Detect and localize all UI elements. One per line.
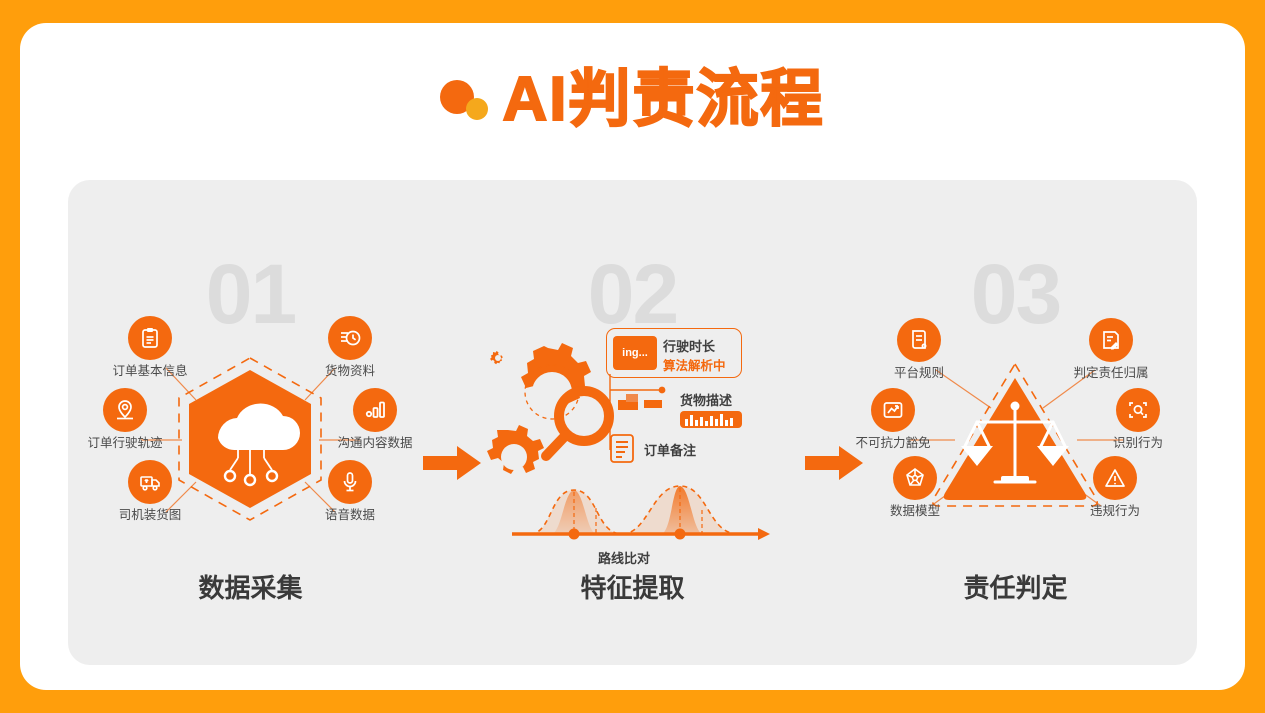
truck-icon [128,460,172,504]
stage-column-2: 02 [460,180,805,665]
content-panel: 01 [68,180,1197,665]
node-label: 数据模型 [865,504,965,519]
node-label: 沟通内容数据 [325,436,425,451]
node-label: 识别行为 [1088,436,1188,451]
bar-chart-pill [680,411,742,428]
stage-2-graphic: ing... 行驶时长 算法解析中 [460,330,805,570]
callout-title: 行驶时长 [663,336,715,355]
node-platform-rules[interactable]: 平台规则 [869,318,969,381]
scan-search-icon [1116,388,1160,432]
chart-label: 路线比对 [598,548,650,567]
node-communication-data[interactable]: 沟通内容数据 [325,388,425,451]
node-behavior-recognition[interactable]: 识别行为 [1088,388,1188,451]
node-cargo-data[interactable]: 货物资料 [300,316,400,379]
verdict-document-icon [1089,318,1133,362]
node-driver-loading-photo[interactable]: 司机装货图 [100,460,200,523]
slide-frame: AI判责流程 01 [20,23,1245,690]
node-label: 判定责任归属 [1061,366,1161,381]
stage-column-3: 03 [843,180,1188,665]
node-label: 语音数据 [300,508,400,523]
feature-label: 订单备注 [644,440,696,459]
node-label: 货物资料 [300,364,400,379]
stage-caption-1: 数据采集 [78,568,423,605]
location-pin-icon [103,388,147,432]
node-label: 违规行为 [1065,504,1165,519]
network-node-icon [893,456,937,500]
callout-card[interactable]: ing... 行驶时长 算法解析中 [606,328,742,378]
microphone-icon [328,460,372,504]
node-label: 平台规则 [869,366,969,381]
node-label: 订单行驶轨迹 [75,436,175,451]
processing-chip: ing... [613,336,657,370]
clipboard-icon [128,316,172,360]
document-lines-icon [610,434,636,464]
title-text: AI判责流程 [502,69,824,131]
callout-subtitle: 算法解析中 [663,355,726,374]
node-label: 不可抗力豁免 [843,436,943,451]
node-order-route[interactable]: 订单行驶轨迹 [75,388,175,451]
bar-chart-icon [353,388,397,432]
dot-small-icon [466,98,488,120]
title-dots-decoration [440,76,496,124]
node-label: 司机装货图 [100,508,200,523]
node-violation-behavior[interactable]: 违规行为 [1065,456,1165,519]
blocks-icon [618,392,674,414]
feature-label: 货物描述 [680,390,732,409]
node-liability-attribution[interactable]: 判定责任归属 [1061,318,1161,381]
node-voice-data[interactable]: 语音数据 [300,460,400,523]
trend-frame-icon [871,388,915,432]
clock-document-icon [328,316,372,360]
warning-triangle-icon [1093,456,1137,500]
dual-bell-curve-icon [512,478,772,558]
stage-1-graphic: 订单基本信息 订单行驶轨迹 [78,330,423,570]
stage-caption-2: 特征提取 [460,568,805,605]
stage-caption-3: 责任判定 [843,568,1188,605]
node-force-majeure-exemption[interactable]: 不可抗力豁免 [843,388,943,451]
page-title: AI判责流程 [20,57,1245,143]
node-data-model[interactable]: 数据模型 [865,456,965,519]
stage-column-1: 01 [78,180,423,665]
stage-3-graphic: 平台规则 不可抗力豁免 [843,330,1188,570]
node-label: 订单基本信息 [100,364,200,379]
stage-number-2: 02 [460,252,805,336]
node-order-basic-info[interactable]: 订单基本信息 [100,316,200,379]
scroll-rules-icon [897,318,941,362]
